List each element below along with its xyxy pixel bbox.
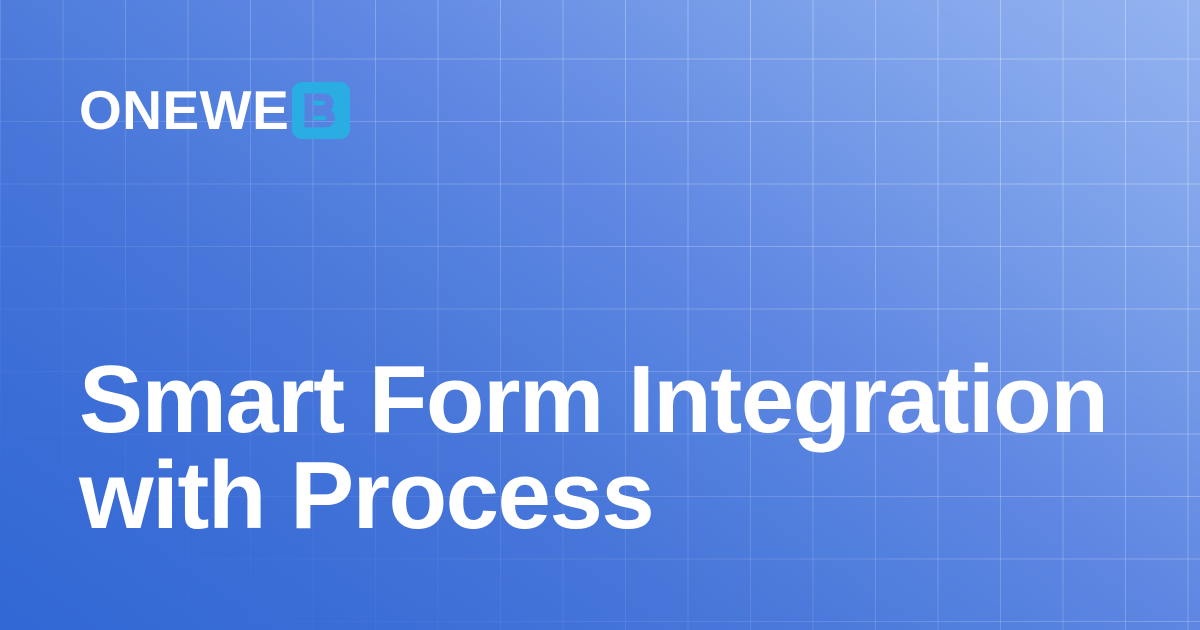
oneweb-b-mark-icon bbox=[292, 82, 350, 139]
social-share-card: ONEWE Smart Form Integration w bbox=[0, 0, 1200, 630]
brand-wordmark: ONEWE bbox=[79, 83, 289, 138]
page-title: Smart Form Integration with Process bbox=[79, 352, 1129, 544]
brand-logo[interactable]: ONEWE bbox=[79, 79, 350, 141]
